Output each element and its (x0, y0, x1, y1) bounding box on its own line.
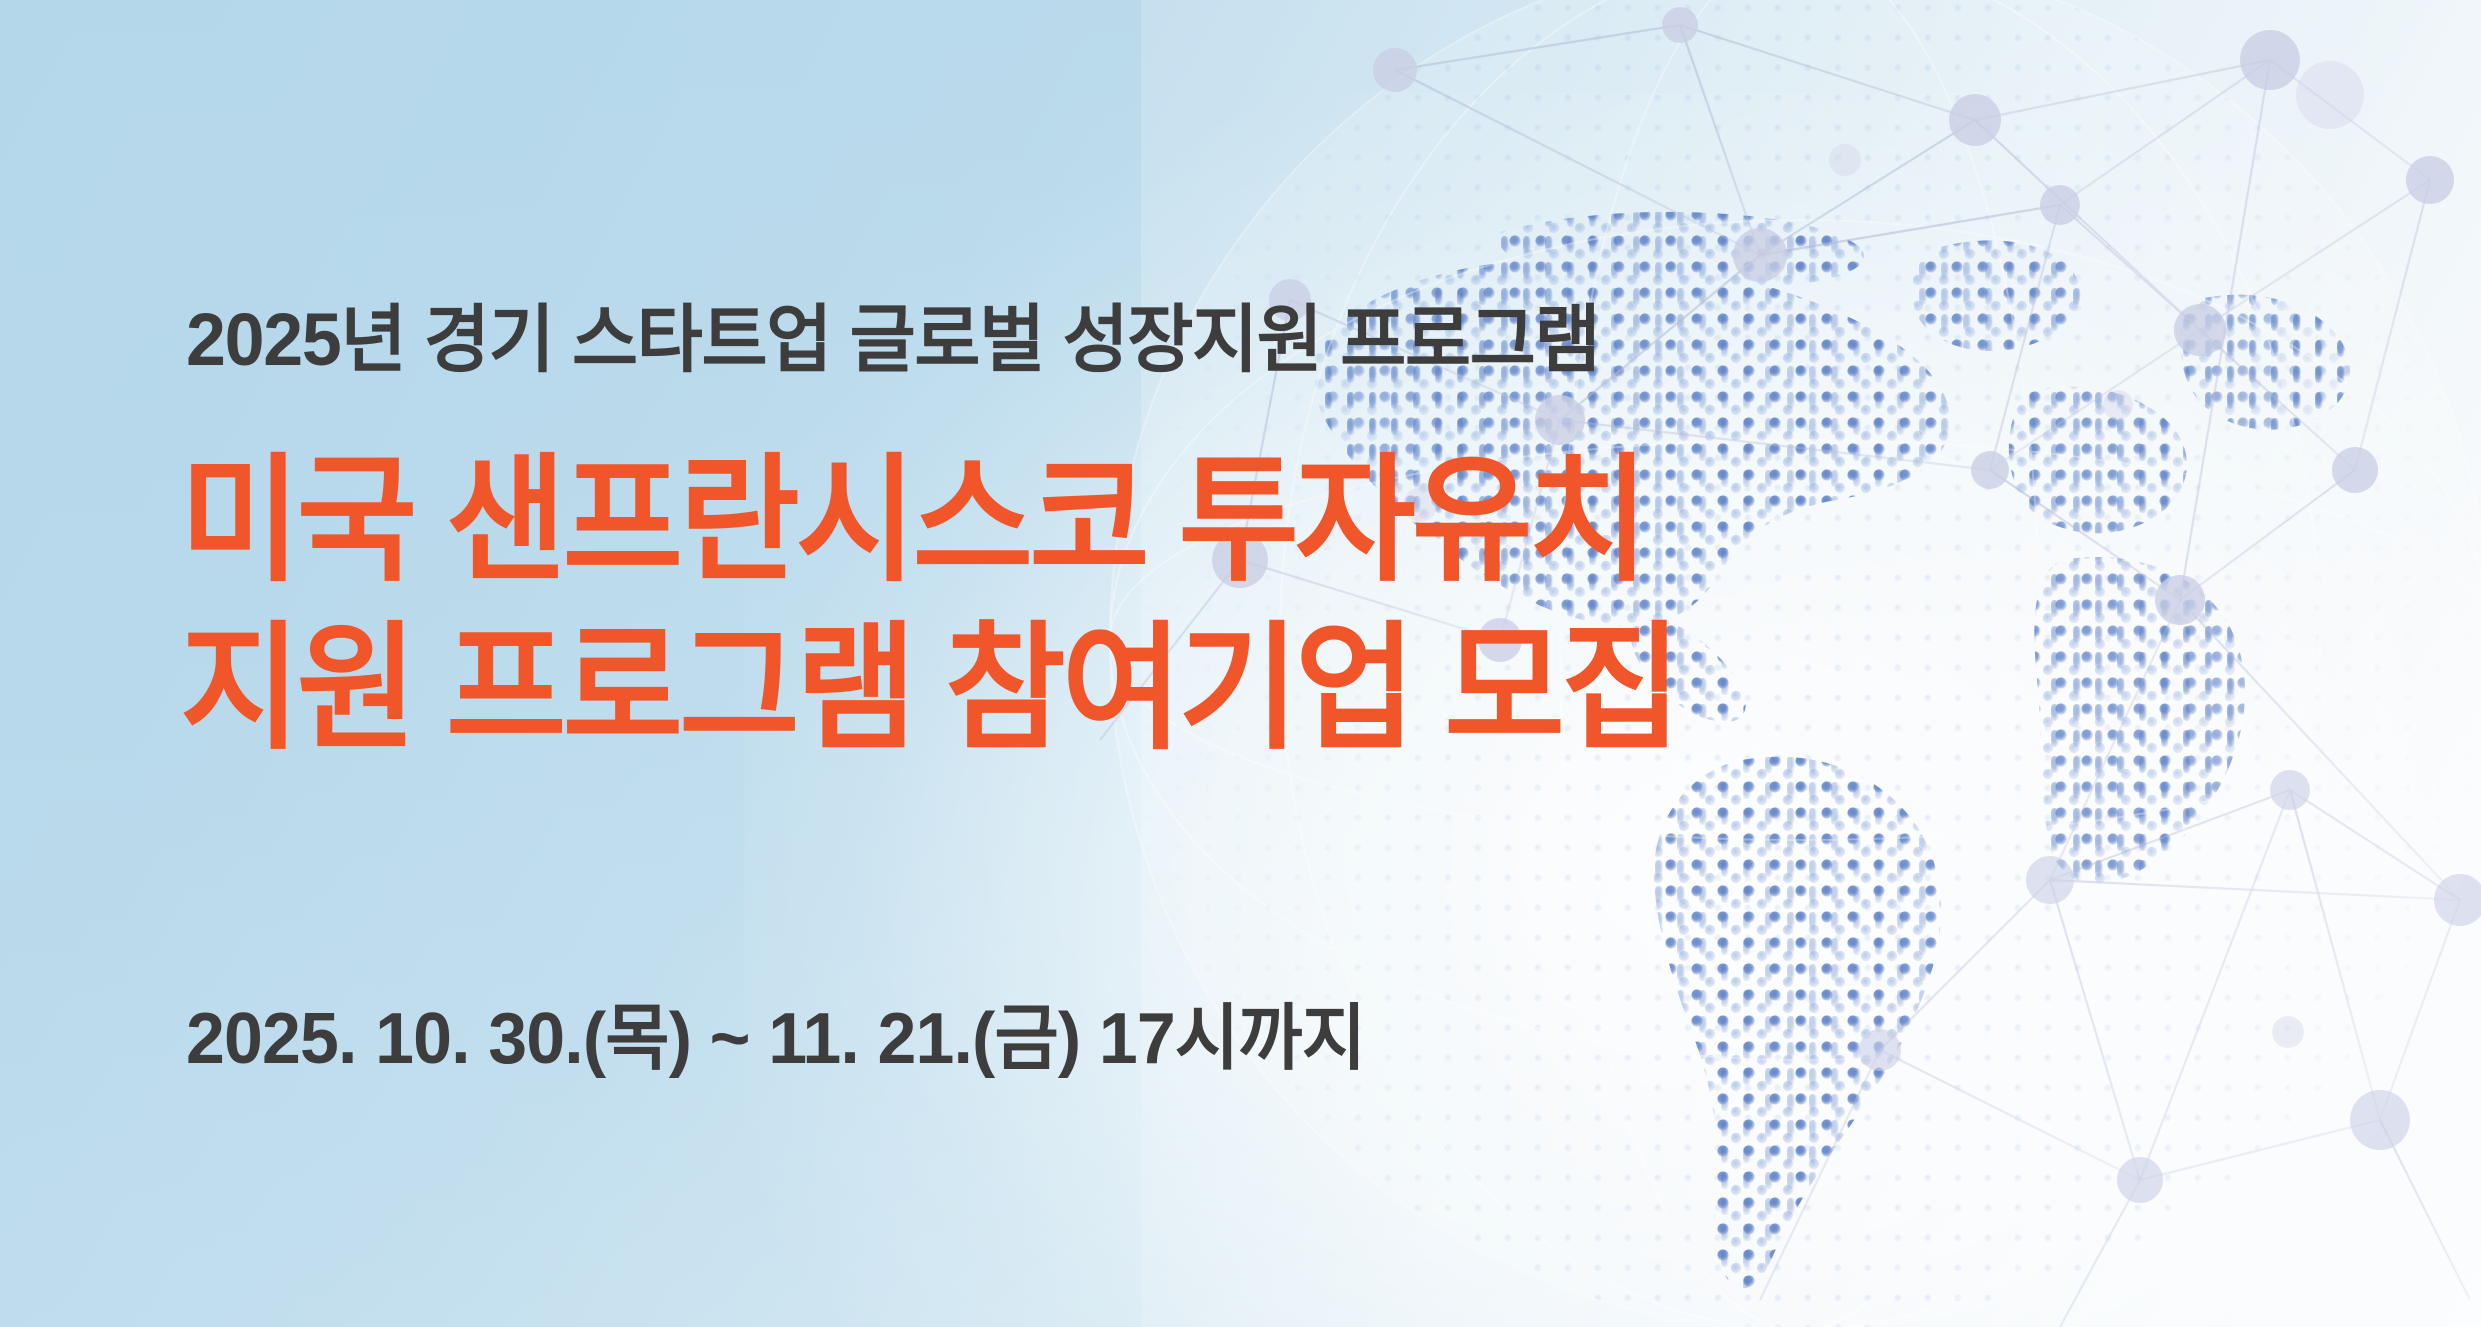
application-period: 2025. 10. 30.(목) ~ 11. 21.(금) 17시까지 (186, 1003, 1365, 1075)
promo-banner: 2025년 경기 스타트업 글로벌 성장지원 프로그램 미국 샌프란시스코 투자… (0, 0, 2481, 1327)
program-eyebrow: 2025년 경기 스타트업 글로벌 성장지원 프로그램 (186, 303, 1599, 377)
headline-line-2: 지원 프로그램 참여기업 모집 (180, 620, 1678, 758)
headline-line-1: 미국 샌프란시스코 투자유치 (180, 452, 1678, 590)
page-title: 미국 샌프란시스코 투자유치 지원 프로그램 참여기업 모집 (180, 452, 1678, 758)
